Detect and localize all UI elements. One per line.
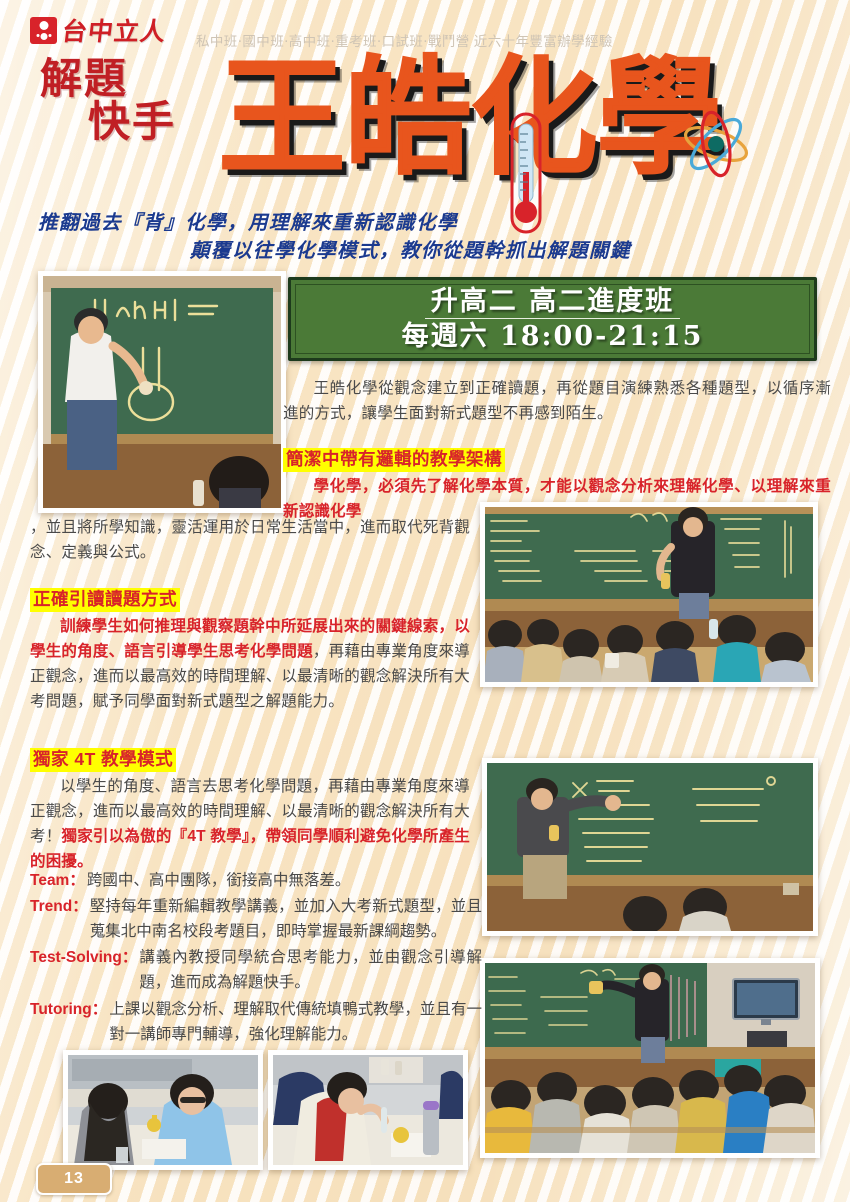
title-block: 解題 快手 王皓化學	[0, 50, 850, 200]
brand-name: 台中立人	[60, 19, 167, 44]
section-heading-1: 簡潔中帶有邏輯的教學架構	[283, 448, 831, 473]
section-3-emphasis: 獨家引以為傲的『4T 教學』，帶領同學順利避免化學所產生的困擾。	[30, 828, 470, 870]
four-t-list: Team： 跨國中、高中團隊，銜接高中無落差。 Trend： 堅持每年重新編輯教…	[30, 868, 482, 1048]
four-t-key: Test-Solving：	[30, 945, 137, 995]
atom-icon	[680, 108, 752, 180]
photo-students-experiment-2	[268, 1050, 468, 1170]
four-t-item: Test-Solving： 講義內教授同學統合思考能力，並由觀念引導解題，進而成…	[30, 945, 482, 995]
course-banner: 升高二 高二進度班 每週六 18:00-21:15	[288, 277, 817, 361]
banner-class-name: 升高二 高二進度班	[425, 286, 680, 319]
four-t-key: Tutoring：	[30, 997, 107, 1047]
four-t-key: Trend：	[30, 894, 88, 944]
subtitle-line1: 推翻過去『背』化學，用理解來重新認識化學	[38, 211, 458, 234]
four-t-item: Tutoring： 上課以觀念分析、理解取代傳統填鴨式教學，並且有一對一講師專門…	[30, 997, 482, 1047]
four-t-key: Team：	[30, 868, 85, 893]
page-number-badge: 13	[36, 1163, 112, 1195]
intro-text: 王皓化學從觀念建立到正確讀題，再從題目演練熟悉各種題型，以循序漸進的方式，讓學生…	[283, 380, 831, 422]
subtitle-line2: 顛覆以往學化學模式，教你從題幹抓出解題關鍵	[190, 237, 828, 265]
photo-students-experiment-1	[63, 1050, 263, 1170]
four-t-value: 上課以觀念分析、理解取代傳統填鴨式教學，並且有一對一講師專門輔導，強化理解能力。	[109, 997, 482, 1047]
banner-schedule: 每週六 18:00-21:15	[402, 319, 704, 352]
section-2-heading-text: 正確引讀讀題方式	[30, 588, 180, 612]
photo-full-classroom	[480, 958, 820, 1158]
poster-page: 台中立人 私中班‧國中班‧高中班‧重考班‧口試班‧戰鬥營 近六十年豐富辦學經驗 …	[0, 0, 850, 1202]
four-t-item: Trend： 堅持每年重新編輯教學講義，並加入大考新式題型，並且蒐集北中南名校段…	[30, 894, 482, 944]
brand-logo: 台中立人	[30, 17, 166, 44]
subtitle: 推翻過去『背』化學，用理解來重新認識化學 顛覆以往學化學模式，教你從題幹抓出解題…	[38, 209, 828, 266]
title-left-line1: 解題	[40, 54, 128, 103]
section-heading-3: 獨家 4T 教學模式	[30, 748, 480, 773]
photo-teacher-pointing	[482, 758, 818, 936]
section-3-heading-text: 獨家 4T 教學模式	[30, 748, 176, 772]
section-1-emphasis: 學化學，必須先了解化學本質，才能以觀念分析來理解化學、以理解來重新認識化學	[283, 478, 831, 520]
brand-tagline: 私中班‧國中班‧高中班‧重考班‧口試班‧戰鬥營 近六十年豐富辦學經驗	[196, 30, 613, 50]
title-main: 王皓化學	[218, 44, 722, 192]
four-t-item: Team： 跨國中、高中團隊，銜接高中無落差。	[30, 868, 482, 893]
four-t-value: 講義內教授同學統合思考能力，並由觀念引導解題，進而成為解題快手。	[139, 945, 482, 995]
section-1-heading-text: 簡潔中帶有邏輯的教學架構	[283, 448, 505, 472]
intro-paragraph: 王皓化學從觀念建立到正確讀題，再從題目演練熟悉各種題型，以循序漸進的方式，讓學生…	[283, 376, 831, 426]
photo-classroom-kmno4	[480, 502, 818, 687]
four-t-value: 跨國中、高中團隊，銜接高中無落差。	[87, 868, 482, 893]
section-1-rest: ，並且將所學知識，靈活運用於日常生活當中，進而取代死背觀念、定義與公式。	[30, 519, 470, 561]
section-heading-2: 正確引讀讀題方式	[30, 588, 480, 613]
photo-teacher-naoh-board	[38, 271, 286, 513]
person-in-box-icon	[30, 17, 57, 44]
section-1-paragraph-rest: ，並且將所學知識，靈活運用於日常生活當中，進而取代死背觀念、定義與公式。	[30, 515, 470, 565]
title-left: 解題 快手	[40, 58, 220, 144]
section-2-paragraph: 訓練學生如何推理與觀察題幹中所延展出來的關鍵線索，以學生的角度、語言引導學生思考…	[30, 614, 470, 714]
four-t-value: 堅持每年重新編輯教學講義，並加入大考新式題型，並且蒐集北中南名校段考題目，即時掌…	[90, 894, 482, 944]
title-left-line2: 快手	[88, 101, 220, 144]
section-3-paragraph: 以學生的角度、語言去思考化學問題，再藉由專業角度來導正觀念，進而以最高效的時間理…	[30, 774, 470, 874]
